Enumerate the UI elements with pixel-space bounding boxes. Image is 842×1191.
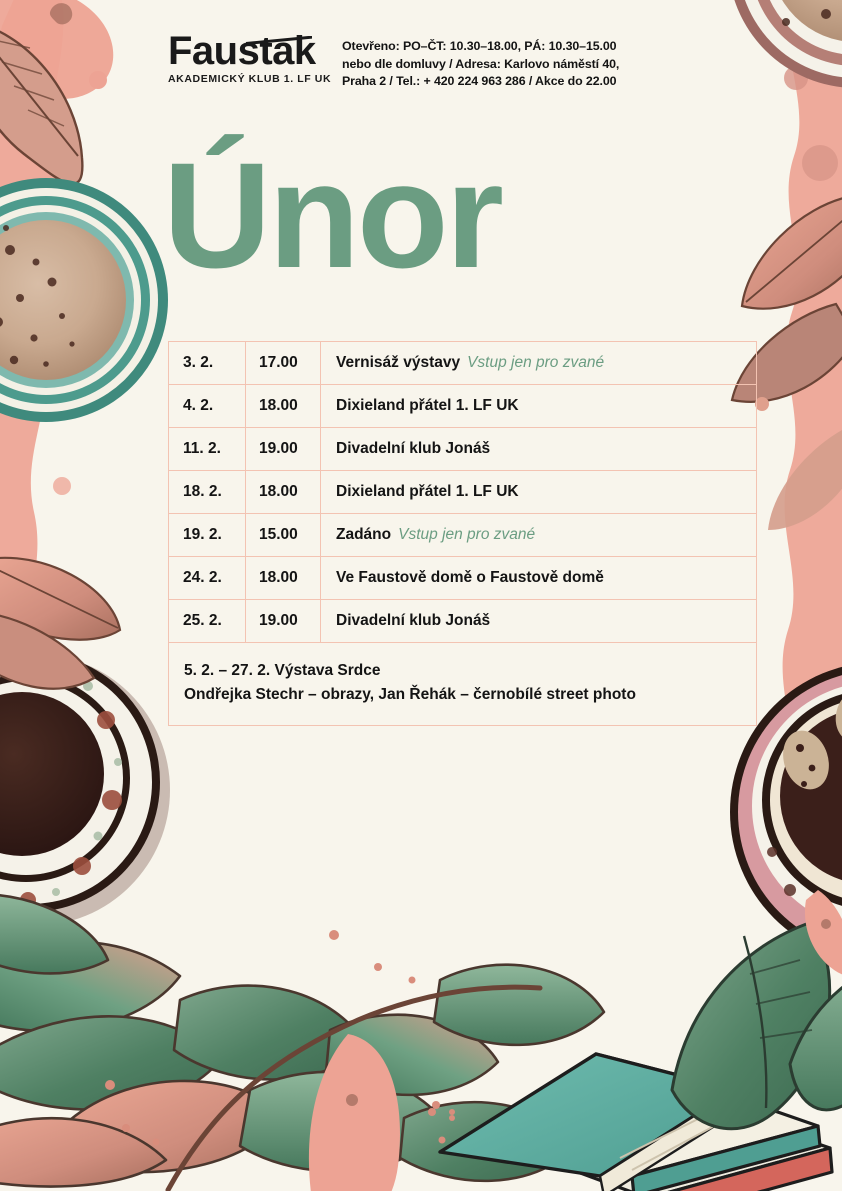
event-date: 11. 2. — [169, 428, 246, 470]
info-line-contact: Praha 2 / Tel.: + 420 224 963 286 / Akce… — [342, 73, 619, 91]
event-date: 18. 2. — [169, 471, 246, 513]
faustak-logo: Faustak AKADEMICKÝ KLUB 1. LF UK — [168, 26, 318, 85]
event-title: Zadáno — [336, 526, 391, 544]
page-title: Únor — [163, 140, 501, 290]
venue-info: Otevřeno: PO–ČT: 10.30–18.00, PÁ: 10.30–… — [342, 26, 619, 91]
programme-table: 3. 2. 17.00 Vernisáž výstavy Vstup jen p… — [168, 341, 757, 726]
event-note: Vstup jen pro zvané — [467, 354, 604, 372]
poster-header: Faustak AKADEMICKÝ KLUB 1. LF UK Otevřen… — [168, 26, 768, 91]
table-row: 4. 2. 18.00 Dixieland přátel 1. LF UK — [169, 385, 756, 428]
event-time: 19.00 — [246, 428, 321, 470]
exhibition-authors: Ondřejka Stechr – obrazy, Jan Řehák – če… — [184, 683, 741, 707]
exhibition-dates-title: 5. 2. – 27. 2. Výstava Srdce — [184, 659, 741, 683]
event-title: Ve Faustově domě o Faustově domě — [336, 569, 604, 587]
event-date: 4. 2. — [169, 385, 246, 427]
logo-subtitle: AKADEMICKÝ KLUB 1. LF UK — [168, 73, 318, 85]
event-date: 24. 2. — [169, 557, 246, 599]
event-title: Divadelní klub Jonáš — [336, 612, 490, 630]
event-time: 18.00 — [246, 557, 321, 599]
logo-stroke-icon — [246, 36, 312, 46]
event-time: 15.00 — [246, 514, 321, 556]
poster: Faustak AKADEMICKÝ KLUB 1. LF UK Otevřen… — [0, 0, 842, 1191]
logo-wordmark: Faustak — [168, 32, 318, 70]
event-time: 18.00 — [246, 471, 321, 513]
event-description: Ve Faustově domě o Faustově domě — [321, 569, 756, 587]
event-description: Divadelní klub Jonáš — [321, 612, 756, 630]
event-description: Vernisáž výstavy Vstup jen pro zvané — [321, 354, 756, 372]
event-date: 25. 2. — [169, 600, 246, 642]
event-description: Zadáno Vstup jen pro zvané — [321, 526, 756, 544]
table-row: 19. 2. 15.00 Zadáno Vstup jen pro zvané — [169, 514, 756, 557]
event-date: 3. 2. — [169, 342, 246, 384]
poster-content: Faustak AKADEMICKÝ KLUB 1. LF UK Otevřen… — [0, 0, 842, 1191]
event-date: 19. 2. — [169, 514, 246, 556]
event-description: Divadelní klub Jonáš — [321, 440, 756, 458]
table-row: 3. 2. 17.00 Vernisáž výstavy Vstup jen p… — [169, 342, 756, 385]
event-title: Divadelní klub Jonáš — [336, 440, 490, 458]
event-description: Dixieland přátel 1. LF UK — [321, 397, 756, 415]
event-title: Dixieland přátel 1. LF UK — [336, 397, 519, 415]
event-note: Vstup jen pro zvané — [398, 526, 535, 544]
exhibition-row: 5. 2. – 27. 2. Výstava Srdce Ondřejka St… — [169, 643, 756, 725]
event-title: Dixieland přátel 1. LF UK — [336, 483, 519, 501]
event-time: 17.00 — [246, 342, 321, 384]
event-time: 19.00 — [246, 600, 321, 642]
info-line-address: nebo dle domluvy / Adresa: Karlovo náměs… — [342, 56, 619, 74]
info-line-opening-hours: Otevřeno: PO–ČT: 10.30–18.00, PÁ: 10.30–… — [342, 38, 619, 56]
table-row: 24. 2. 18.00 Ve Faustově domě o Faustově… — [169, 557, 756, 600]
table-row: 25. 2. 19.00 Divadelní klub Jonáš — [169, 600, 756, 643]
event-title: Vernisáž výstavy — [336, 354, 460, 372]
table-row: 18. 2. 18.00 Dixieland přátel 1. LF UK — [169, 471, 756, 514]
event-time: 18.00 — [246, 385, 321, 427]
event-description: Dixieland přátel 1. LF UK — [321, 483, 756, 501]
table-row: 11. 2. 19.00 Divadelní klub Jonáš — [169, 428, 756, 471]
